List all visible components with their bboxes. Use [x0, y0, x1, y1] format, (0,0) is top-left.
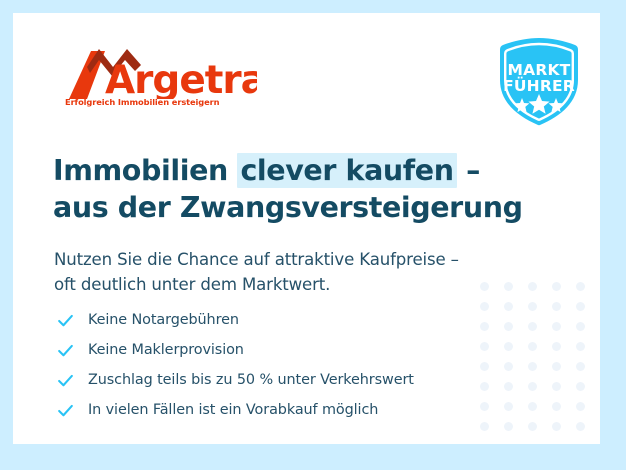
banner-content-area: Argetra Erfolgreich Immobilien ersteiger… — [13, 13, 600, 444]
list-item-label: Keine Maklerprovision — [88, 342, 244, 358]
dot — [528, 382, 537, 391]
dot — [528, 322, 537, 331]
dot — [552, 362, 561, 371]
shield-badge-icon: MARKT FÜHRER — [491, 34, 587, 130]
badge-line2: FÜHRER — [503, 76, 575, 95]
dot — [576, 402, 585, 411]
page-headline: Immobilien clever kaufen – aus der Zwang… — [53, 153, 553, 226]
dot — [552, 382, 561, 391]
dot — [576, 282, 585, 291]
page-subheadline: Nutzen Sie die Chance auf attraktive Kau… — [54, 247, 554, 297]
dot — [528, 402, 537, 411]
promo-banner: Argetra Erfolgreich Immobilien ersteiger… — [0, 0, 626, 470]
dot — [552, 422, 561, 431]
list-item: Keine Maklerprovision — [56, 335, 516, 365]
dot — [552, 302, 561, 311]
dot — [576, 302, 585, 311]
dot — [528, 422, 537, 431]
dot — [576, 382, 585, 391]
list-item-label: In vielen Fällen ist ein Vorabkauf mögli… — [88, 402, 378, 418]
svg-text:Argetra: Argetra — [105, 58, 257, 99]
list-item: Zuschlag teils bis zu 50 % unter Verkehr… — [56, 365, 516, 395]
argetra-a-roof-logomark: Argetra — [57, 43, 257, 99]
check-icon — [56, 341, 75, 360]
logo-tagline: Erfolgreich Immobilien ersteigern — [65, 97, 219, 107]
headline-line1-prefix: Immobilien — [53, 154, 237, 187]
dot — [552, 342, 561, 351]
list-item-label: Keine Notargebühren — [88, 312, 239, 328]
market-leader-badge: MARKT FÜHRER — [491, 34, 587, 130]
dot — [528, 362, 537, 371]
subheadline-line1: Nutzen Sie die Chance auf attraktive Kau… — [54, 250, 459, 269]
dot — [552, 322, 561, 331]
list-item: Keine Notargebühren — [56, 305, 516, 335]
check-icon — [56, 371, 75, 390]
benefit-list: Keine Notargebühren Keine Maklerprovisio… — [56, 305, 516, 425]
headline-highlight: clever kaufen — [237, 153, 456, 188]
headline-line1-suffix: – — [457, 154, 480, 187]
dot — [552, 402, 561, 411]
check-icon — [56, 401, 75, 420]
dot — [576, 422, 585, 431]
list-item-label: Zuschlag teils bis zu 50 % unter Verkehr… — [88, 372, 414, 388]
dot — [528, 302, 537, 311]
dot — [576, 342, 585, 351]
list-item: In vielen Fällen ist ein Vorabkauf mögli… — [56, 395, 516, 425]
subheadline-line2: oft deutlich unter dem Marktwert. — [54, 275, 330, 294]
dot — [576, 322, 585, 331]
check-icon — [56, 311, 75, 330]
argetra-logo[interactable]: Argetra Erfolgreich Immobilien ersteiger… — [57, 43, 257, 123]
headline-line2: aus der Zwangsversteigerung — [53, 191, 523, 224]
dot — [576, 362, 585, 371]
dot — [528, 342, 537, 351]
